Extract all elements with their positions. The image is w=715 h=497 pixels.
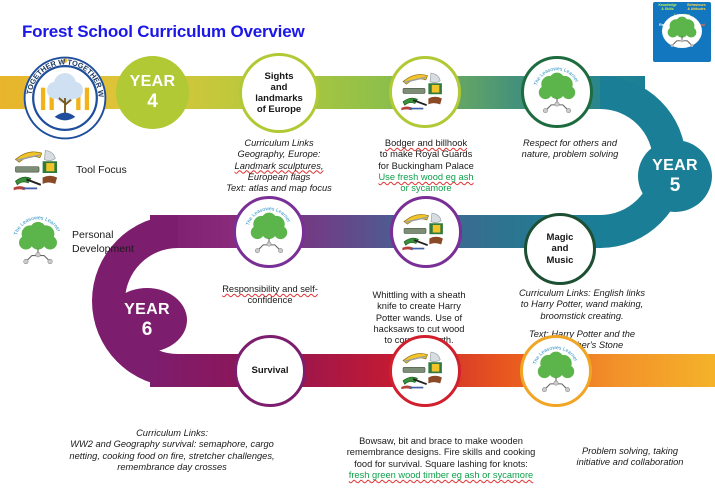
caption-year4-personal: Respect for others and nature, problem s… <box>500 138 640 161</box>
station-learner-year6-mid[interactable]: The Leasowes Learner <box>233 196 305 268</box>
year-5-badge[interactable]: YEAR 5 <box>638 140 712 212</box>
legend-label-tool-focus: Tool Focus <box>76 164 127 177</box>
station-survival-label: Survival <box>249 365 292 376</box>
caption-year6-personal-bot: Problem solving, taking initiative and c… <box>550 446 710 469</box>
year-4-number: 4 <box>147 92 158 111</box>
forest-school-tools-icon <box>398 68 452 117</box>
badge-knowledge-sub: & Skills <box>654 8 682 12</box>
forest-school-tools-icon <box>398 347 452 396</box>
badge-behaviours-sub: & Attitudes <box>683 8 711 12</box>
year-5-number: 5 <box>670 176 681 195</box>
caption-year6-personal-mid: Responsibility and self- confidence <box>196 284 344 307</box>
leasowes-learner-badge: Knowledge & Skills Behaviours & Attitude… <box>653 2 711 62</box>
forest-school-tools-icon <box>10 145 68 197</box>
leasowes-learner-brain-icon: The Leasowes Learner <box>244 206 294 259</box>
school-crest-logo: TOGETHER WE LEARN TOGETHER WE GROW <box>22 55 108 141</box>
forest-school-tools-icon <box>399 208 453 257</box>
station-tools-year6-bot[interactable] <box>389 335 461 407</box>
station-learner-year4[interactable]: The Leasowes Learner <box>521 56 593 128</box>
caption-year4-curriculum: Curriculum Links Geography, Europe: Land… <box>204 138 354 195</box>
curriculum-overview-poster: Forest School Curriculum Overview <box>0 0 715 497</box>
year-4-word: YEAR <box>130 74 176 90</box>
badge-brain-emblem <box>662 14 702 48</box>
leasowes-learner-brain-icon: The Leasowes Learner <box>531 345 581 398</box>
legend-item-personal-development: The Leasowes Learner PersonalDevelopment <box>12 215 134 270</box>
caption-year6-curriculum: Curriculum Links: WW2 and Geography surv… <box>12 428 332 473</box>
station-sights-and-landmarks[interactable]: Sights and landmarks of Europe <box>239 53 319 133</box>
leasowes-learner-brain-icon: The Leasowes Learner <box>532 66 582 119</box>
leasowes-learner-brain-icon: The Leasowes Learner <box>12 215 64 270</box>
station-magic-and-music[interactable]: Magic and Music <box>524 213 596 285</box>
station-learner-year6-bot[interactable]: The Leasowes Learner <box>520 335 592 407</box>
year-6-number: 6 <box>142 320 153 339</box>
station-tools-year6-mid[interactable] <box>390 196 462 268</box>
caption-year6-tools-bot: Bowsaw, bit and brace to make wooden rem… <box>314 436 568 481</box>
year-5-word: YEAR <box>652 158 698 174</box>
year-6-word: YEAR <box>124 302 170 318</box>
legend-item-tool-focus: Tool Focus <box>10 145 127 197</box>
station-tools-year4[interactable] <box>389 56 461 128</box>
year-4-badge[interactable]: YEAR 4 <box>116 56 189 129</box>
legend-label-personal-development: PersonalDevelopment <box>72 229 134 255</box>
caption-year5-curriculum: Curriculum Links: English links to Harry… <box>494 288 670 352</box>
station-magic-music-label: Magic and Music <box>544 232 577 266</box>
year-6-badge[interactable]: YEAR 6 <box>107 288 187 352</box>
caption-year4-tools: Bodger and billhook to make Royal Guards… <box>350 138 502 195</box>
page-title: Forest School Curriculum Overview <box>22 22 304 42</box>
station-sights-label: Sights and landmarks of Europe <box>252 71 306 116</box>
station-survival[interactable]: Survival <box>234 335 306 407</box>
